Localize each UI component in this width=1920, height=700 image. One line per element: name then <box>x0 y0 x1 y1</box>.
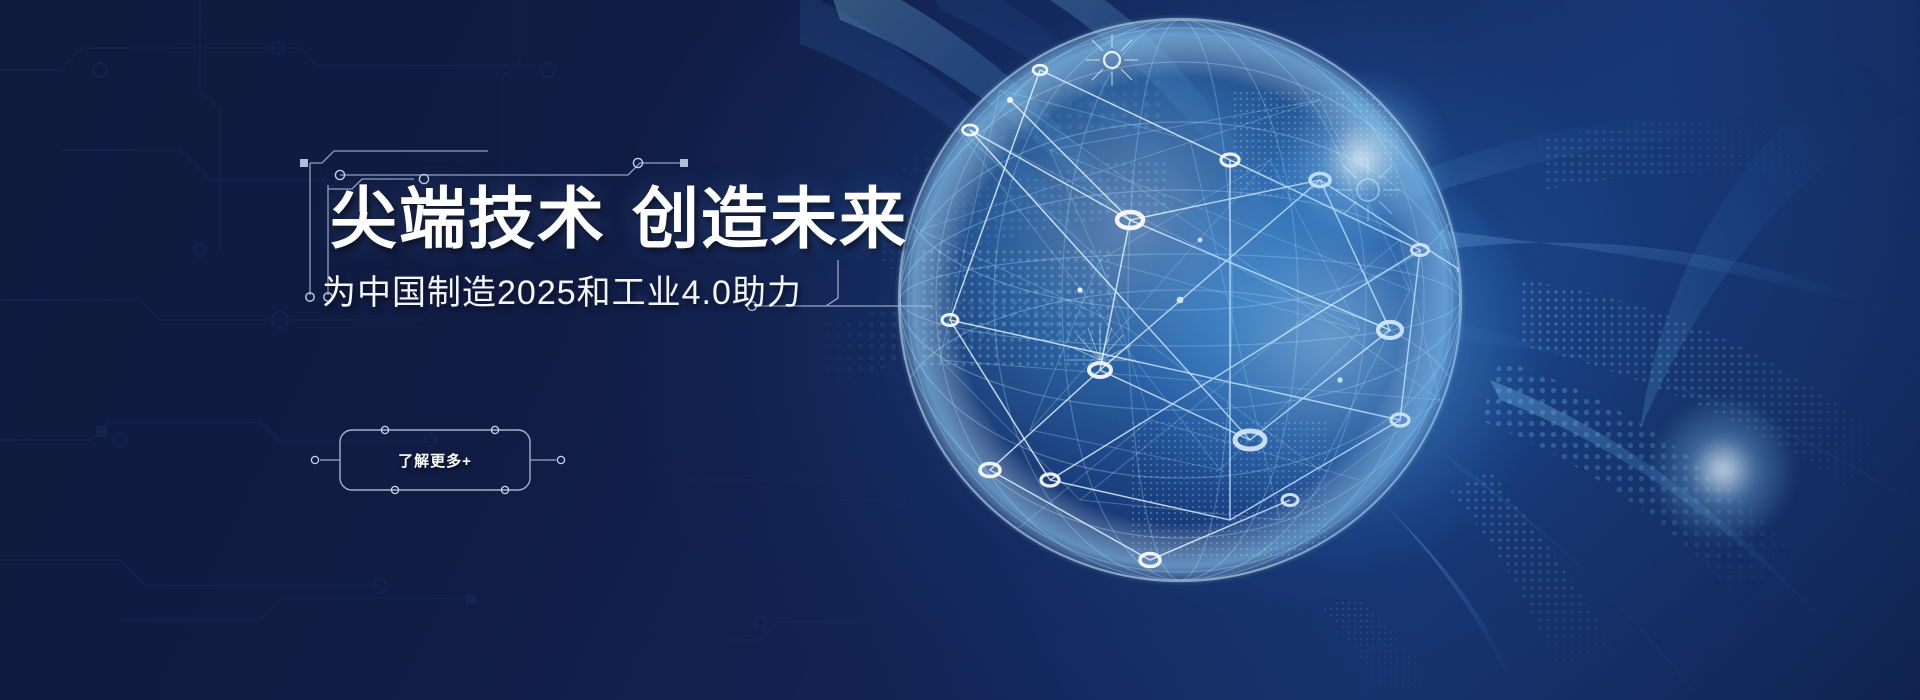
glow-highlight-right <box>1648 395 1798 545</box>
glow-highlight-top <box>1270 70 1450 250</box>
hero-banner: 尖端技术创造未来 为中国制造2025和工业4.0助力 了解更多 <box>0 0 1920 700</box>
cta-button-group[interactable]: 了解更多+ <box>300 412 600 508</box>
globe-glow <box>1120 150 1540 570</box>
blade-shapes-front <box>1380 116 1910 700</box>
banner-content: 尖端技术创造未来 为中国制造2025和工业4.0助力 了解更多 <box>0 0 960 700</box>
page-title: 尖端技术创造未来 <box>330 186 908 253</box>
headline-part-2: 创造未来 <box>632 182 908 257</box>
blade-shapes-back <box>800 0 1910 430</box>
globe-node-rings <box>942 65 1463 566</box>
halftone-dot-rays <box>1320 0 1910 700</box>
page-subtitle: 为中国制造2025和工业4.0助力 <box>322 272 802 315</box>
network-globe-artwork <box>800 0 1920 700</box>
headline-part-1: 尖端技术 <box>330 182 606 257</box>
sparkle-bursts <box>1086 34 1400 222</box>
globe-network-edges <box>950 70 1460 560</box>
globe-sphere <box>894 14 1466 586</box>
learn-more-button[interactable]: 了解更多+ <box>340 412 530 508</box>
